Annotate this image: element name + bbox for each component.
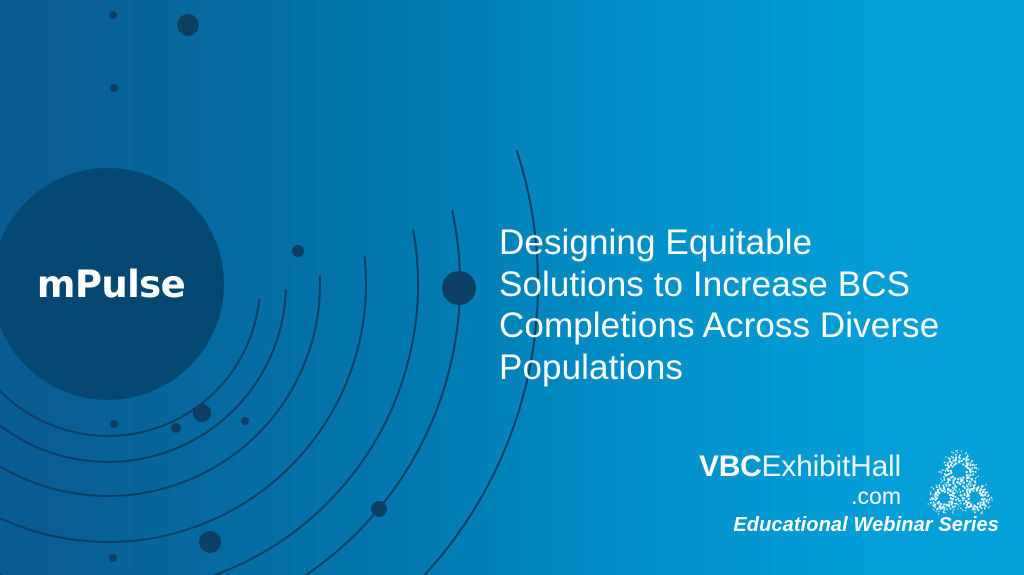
trefoil-dot — [949, 494, 951, 496]
trefoil-dot — [941, 472, 942, 473]
trefoil-dot — [934, 506, 936, 508]
trefoil-dot — [944, 480, 945, 481]
trefoil-dot — [967, 463, 969, 465]
trefoil-dot — [981, 508, 983, 510]
trefoil-dot — [934, 494, 936, 496]
trefoil-dot — [939, 471, 940, 472]
trefoil-dot — [989, 499, 991, 501]
trefoil-dot — [976, 464, 977, 465]
trefoil-dot — [938, 511, 939, 512]
trefoil-dot — [955, 458, 957, 460]
trefoil-dot — [965, 510, 966, 511]
trefoil-dot — [962, 463, 964, 465]
orbit-node-7 — [241, 417, 249, 425]
trefoil-dot — [950, 464, 952, 466]
trefoil-dot — [951, 476, 953, 478]
trefoil-dot — [964, 493, 966, 495]
trefoil-dot — [976, 477, 977, 478]
trefoil-dot — [961, 450, 962, 451]
trefoil-dot — [960, 508, 961, 509]
vbc-wordmark: VBC ExhibitHall — [699, 450, 901, 484]
trefoil-dot — [966, 495, 968, 497]
orbit-node-2 — [109, 11, 117, 19]
trefoil-dot — [946, 484, 947, 485]
trefoil-dot — [969, 464, 971, 466]
trefoil-dot — [952, 457, 954, 459]
trefoil-dot — [942, 469, 944, 471]
trefoil-dot — [975, 481, 976, 482]
trefoil-dot — [977, 503, 979, 505]
trefoil-dot — [978, 469, 979, 470]
trefoil-dot — [932, 504, 934, 506]
trefoil-dot — [943, 476, 945, 478]
title-line-4: Populations — [499, 347, 999, 389]
trefoil-dot — [952, 487, 954, 489]
trefoil-dot — [945, 475, 947, 477]
trefoil-dot — [957, 504, 958, 505]
trefoil-dot — [978, 510, 980, 512]
trefoil-dot — [969, 491, 971, 493]
trefoil-dot — [955, 451, 956, 452]
trefoil-dot — [960, 492, 961, 493]
trefoil-dot — [952, 512, 953, 513]
trefoil-dot — [948, 486, 949, 487]
trefoil-dot — [968, 459, 970, 461]
trefoil-dot — [986, 484, 987, 485]
trefoil-dot — [971, 460, 973, 462]
trefoil-dot — [936, 509, 938, 511]
trefoil-dot — [984, 494, 986, 496]
trefoil-dot — [949, 501, 951, 503]
trefoil-dot — [954, 488, 956, 490]
trefoil-dot — [970, 503, 972, 505]
trefoil-dot — [971, 480, 972, 481]
trefoil-dot — [941, 482, 942, 483]
trefoil-dot — [955, 454, 957, 456]
trefoil-dot — [962, 499, 964, 501]
trefoil-dot — [972, 464, 974, 466]
trefoil-dot — [937, 502, 939, 504]
orbit-node-8 — [199, 531, 221, 553]
trefoil-dot — [930, 502, 932, 504]
trefoil-dot — [945, 470, 947, 472]
trefoil-dot — [970, 471, 972, 473]
orbit-node-6 — [171, 423, 181, 433]
trefoil-dot — [960, 494, 961, 495]
trefoil-dot — [971, 488, 973, 490]
trefoil-dot — [939, 484, 941, 486]
trefoil-dot — [970, 482, 972, 484]
trefoil-dot — [974, 480, 975, 481]
trefoil-dot — [939, 486, 941, 488]
title-line-3: Completions Across Diverse — [499, 305, 999, 347]
trefoil-dot — [970, 469, 972, 471]
trefoil-dot — [936, 486, 938, 488]
trefoil-dot — [955, 456, 957, 458]
trefoil-dot — [945, 464, 947, 466]
title-line-1: Designing Equitable — [499, 222, 999, 264]
trefoil-dot — [967, 502, 969, 504]
trefoil-dot — [967, 467, 969, 469]
orbit-node-10 — [371, 501, 387, 517]
trefoil-dot — [966, 452, 967, 453]
trefoil-dot — [937, 491, 939, 493]
trefoil-dot — [928, 503, 929, 504]
trefoil-dot — [970, 462, 972, 464]
trefoil-dot — [958, 456, 960, 458]
trefoil-dot — [945, 512, 946, 513]
trefoil-dot — [950, 472, 952, 474]
trefoil-dot — [944, 491, 946, 493]
trefoil-dot — [974, 509, 976, 511]
trefoil-dot — [964, 487, 966, 489]
trefoil-dot — [978, 486, 980, 488]
trefoil-dot — [933, 509, 934, 510]
trefoil-dot — [972, 474, 974, 476]
trefoil-dot — [988, 502, 989, 503]
orbit-node-11 — [110, 84, 118, 92]
trefoil-dot — [950, 508, 952, 510]
trefoil-dot — [955, 463, 957, 465]
trefoil-dot — [960, 484, 962, 486]
trefoil-dot — [956, 487, 957, 488]
trefoil-dot — [976, 468, 977, 469]
trefoil-dot — [967, 488, 969, 490]
trefoil-dot — [963, 458, 965, 460]
orbit-node-5 — [193, 404, 211, 422]
trefoil-dot — [981, 513, 982, 514]
trefoil-dot — [984, 489, 986, 491]
trefoil-dot — [985, 501, 987, 503]
vbc-domain-suffix: .com — [851, 483, 901, 510]
trefoil-dot — [962, 509, 963, 510]
trefoil-dot — [940, 503, 942, 505]
trefoil-dot — [966, 485, 967, 486]
trefoil-dot — [985, 492, 987, 494]
trefoil-dot — [974, 505, 976, 507]
trefoil-dot — [961, 460, 963, 462]
trefoil-dot — [982, 504, 984, 506]
trefoil-dot — [983, 502, 985, 504]
trefoil-dot — [947, 482, 948, 483]
trefoil-dot — [966, 504, 968, 506]
trefoil-dot — [948, 457, 950, 459]
trefoil-dot — [950, 470, 952, 472]
mpulse-logo: mPulse — [0, 168, 224, 400]
trefoil-dot — [973, 487, 975, 489]
trefoil-dot — [952, 490, 954, 492]
trefoil-dot — [968, 477, 970, 479]
trefoil-dot — [955, 490, 956, 491]
trefoil-dot — [955, 499, 957, 501]
trefoil-dot — [967, 454, 968, 455]
trefoil-dot — [930, 493, 932, 495]
webinar-title-slide: mPulse Designing Equitable Solutions to … — [0, 0, 1024, 575]
trefoil-dot — [937, 489, 939, 491]
trefoil-dot — [948, 473, 950, 475]
orbit-node-12 — [110, 420, 118, 428]
trefoil-dot — [975, 478, 976, 479]
trefoil-dot — [989, 506, 990, 507]
trefoil-dot — [967, 456, 969, 458]
trefoil-dot — [969, 485, 971, 487]
trefoil-dots-icon — [922, 448, 996, 522]
trefoil-dot — [943, 503, 945, 505]
trefoil-dot — [936, 484, 937, 485]
trefoil-dot — [959, 478, 961, 480]
trefoil-dot — [957, 450, 958, 451]
trefoil-dot — [931, 487, 932, 488]
vbc-wordmark-light: ExhibitHall — [761, 450, 901, 484]
trefoil-dot — [943, 487, 945, 489]
trefoil-dot — [982, 511, 983, 512]
trefoil-dot — [978, 476, 979, 477]
trefoil-dot — [976, 467, 977, 468]
trefoil-dot — [957, 452, 958, 453]
trefoil-dot — [979, 492, 981, 494]
trefoil-dot — [974, 467, 976, 469]
trefoil-dot — [985, 505, 987, 507]
trefoil-dot — [953, 452, 954, 453]
trefoil-dot — [952, 510, 953, 511]
trefoil-dot — [951, 494, 953, 496]
trefoil-dot — [941, 478, 942, 479]
trefoil-dot — [949, 489, 951, 491]
trefoil-dot — [954, 478, 956, 480]
trefoil-dot — [960, 480, 962, 482]
trefoil-dot — [951, 503, 953, 505]
trefoil-dot — [940, 508, 942, 510]
trefoil-dot — [974, 484, 976, 486]
trefoil-dot — [933, 502, 935, 504]
trefoil-dot — [948, 466, 950, 468]
trefoil-dot — [947, 479, 949, 481]
trefoil-dot — [954, 509, 955, 510]
trefoil-dot — [973, 507, 975, 509]
trefoil-dot — [956, 503, 958, 505]
trefoil-dot — [945, 457, 946, 458]
trefoil-dot — [966, 471, 968, 473]
trefoil-dot — [931, 497, 933, 499]
vbc-exhibithall-logo: VBC ExhibitHall .com Educational Webinar… — [700, 450, 1000, 550]
trefoil-dot — [944, 473, 946, 475]
trefoil-dot — [947, 470, 949, 472]
trefoil-dot — [938, 514, 939, 515]
trefoil-dot — [975, 471, 977, 473]
trefoil-dot — [969, 481, 971, 483]
trefoil-dot — [947, 462, 949, 464]
trefoil-dot — [947, 480, 949, 482]
trefoil-dot — [984, 498, 986, 500]
trefoil-dot — [971, 479, 973, 481]
trefoil-dot — [972, 471, 974, 473]
trefoil-dot — [966, 491, 968, 493]
trefoil-dot — [980, 502, 982, 504]
trefoil-dot — [982, 491, 984, 493]
trefoil-dot — [972, 467, 974, 469]
trefoil-dot — [955, 496, 957, 498]
trefoil-dot — [989, 498, 990, 499]
trefoil-dot — [962, 497, 964, 499]
orbit-node-1 — [177, 14, 199, 36]
vbc-wordmark-bold: VBC — [699, 450, 761, 484]
trefoil-dot — [952, 466, 954, 468]
trefoil-dot — [952, 506, 954, 508]
orbit-node-4 — [442, 271, 476, 305]
trefoil-dot — [974, 465, 976, 467]
trefoil-dot — [982, 498, 984, 500]
trefoil-dot — [958, 500, 959, 501]
trefoil-dot — [958, 460, 960, 462]
trefoil-dot — [980, 494, 982, 496]
trefoil-dot — [988, 507, 989, 508]
trefoil-dot — [954, 486, 956, 488]
trefoil-dot — [944, 509, 946, 511]
trefoil-dot — [959, 455, 961, 457]
trefoil-dot — [965, 460, 967, 462]
mpulse-wordmark: mPulse — [37, 266, 185, 303]
trefoil-dot — [967, 474, 969, 476]
trefoil-dot — [953, 483, 955, 485]
trefoil-dot — [957, 482, 959, 484]
trefoil-dot — [939, 506, 941, 508]
trefoil-dot — [947, 464, 949, 466]
trefoil-dot — [954, 492, 956, 494]
trefoil-dot — [981, 486, 983, 488]
trefoil-dot — [965, 501, 967, 503]
trefoil-dot — [991, 497, 992, 498]
trefoil-dot — [946, 509, 948, 511]
trefoil-dot — [965, 507, 967, 509]
trefoil-dot — [950, 497, 952, 499]
orbit-node-3 — [292, 245, 304, 257]
trefoil-dot — [960, 502, 961, 503]
trefoil-dot — [957, 492, 958, 493]
trefoil-dot — [967, 493, 969, 495]
trefoil-dot — [980, 488, 982, 490]
trefoil-dot — [959, 489, 960, 490]
trefoil-dot — [969, 474, 971, 476]
trefoil-dot — [956, 486, 957, 487]
trefoil-dot — [934, 499, 936, 501]
trefoil-dot — [942, 485, 944, 487]
trefoil-dot — [979, 506, 981, 508]
trefoil-dot — [986, 492, 988, 494]
trefoil-dot — [974, 512, 976, 514]
trefoil-dot — [981, 493, 983, 495]
trefoil-dot — [984, 508, 985, 509]
trefoil-dot — [935, 492, 937, 494]
trefoil-dot — [946, 468, 948, 470]
trefoil-dot — [960, 491, 961, 492]
trefoil-dot — [930, 492, 931, 493]
trefoil-dot — [962, 490, 964, 492]
trefoil-dot — [952, 492, 954, 494]
trefoil-dot — [946, 485, 948, 487]
page-title: Designing Equitable Solutions to Increas… — [499, 222, 999, 388]
trefoil-dot — [929, 499, 931, 501]
trefoil-dot — [957, 498, 958, 499]
trefoil-dot — [966, 465, 968, 467]
title-line-2: Solutions to Increase BCS — [499, 264, 999, 306]
trefoil-dot — [951, 462, 953, 464]
trefoil-dot — [931, 499, 933, 501]
trefoil-dot — [944, 484, 945, 485]
trefoil-dot — [963, 503, 965, 505]
trefoil-dot — [934, 504, 936, 506]
trefoil-dot — [951, 456, 953, 458]
trefoil-dot — [972, 509, 974, 511]
trefoil-dot — [934, 496, 936, 498]
trefoil-dot — [966, 480, 968, 482]
trefoil-dot — [944, 462, 946, 464]
trefoil-dot — [953, 495, 955, 497]
trefoil-dot — [968, 483, 970, 485]
trefoil-dot — [962, 485, 964, 487]
trefoil-dot — [949, 460, 951, 462]
trefoil-dot — [967, 487, 968, 488]
trefoil-dot — [983, 485, 984, 486]
trefoil-dot — [971, 484, 972, 485]
trefoil-dot — [975, 482, 976, 483]
trefoil-dot — [953, 479, 955, 481]
orbit-node-9 — [109, 554, 117, 562]
trefoil-dot — [968, 498, 970, 500]
trefoil-dot — [963, 482, 965, 484]
trefoil-dot — [946, 504, 948, 506]
trefoil-dot — [943, 511, 945, 513]
trefoil-dot — [951, 451, 952, 452]
trefoil-dot — [948, 484, 950, 486]
trefoil-dot — [939, 488, 941, 490]
trefoil-dot — [933, 488, 935, 490]
trefoil-dot — [943, 507, 945, 509]
trefoil-dot — [957, 508, 958, 509]
trefoil-dot — [976, 507, 978, 509]
trefoil-dot — [948, 505, 950, 507]
trefoil-dot — [992, 499, 993, 500]
trefoil-dot — [957, 478, 959, 480]
trefoil-dot — [954, 506, 956, 508]
trefoil-dot — [947, 492, 949, 494]
trefoil-dot — [962, 477, 964, 479]
trefoil-dot — [940, 471, 941, 472]
trefoil-dot — [936, 511, 937, 512]
trefoil-dot — [988, 495, 990, 497]
trefoil-dot — [953, 460, 955, 462]
trefoil-dot — [952, 498, 954, 500]
trefoil-dot — [942, 480, 943, 481]
trefoil-dot — [947, 488, 949, 490]
trefoil-dot — [958, 506, 959, 507]
